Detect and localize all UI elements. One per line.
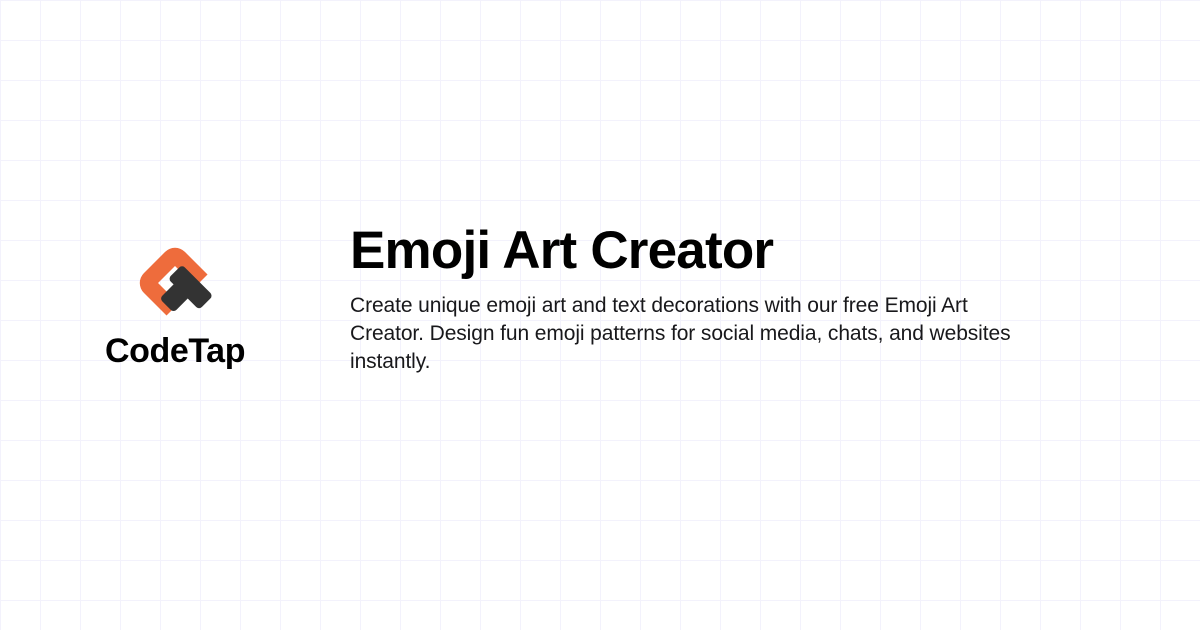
page-title: Emoji Art Creator: [350, 222, 1050, 279]
card-content-row: CodeTap Emoji Art Creator Create unique …: [0, 0, 1200, 630]
og-preview-card: CodeTap Emoji Art Creator Create unique …: [0, 0, 1200, 630]
page-description: Create unique emoji art and text decorat…: [350, 292, 1040, 376]
brand-block: CodeTap: [0, 0, 350, 370]
brand-wordmark: CodeTap: [105, 333, 245, 370]
codetap-bracket-t-logo-icon: [135, 243, 215, 323]
text-block: Emoji Art Creator Create unique emoji ar…: [350, 0, 1200, 376]
